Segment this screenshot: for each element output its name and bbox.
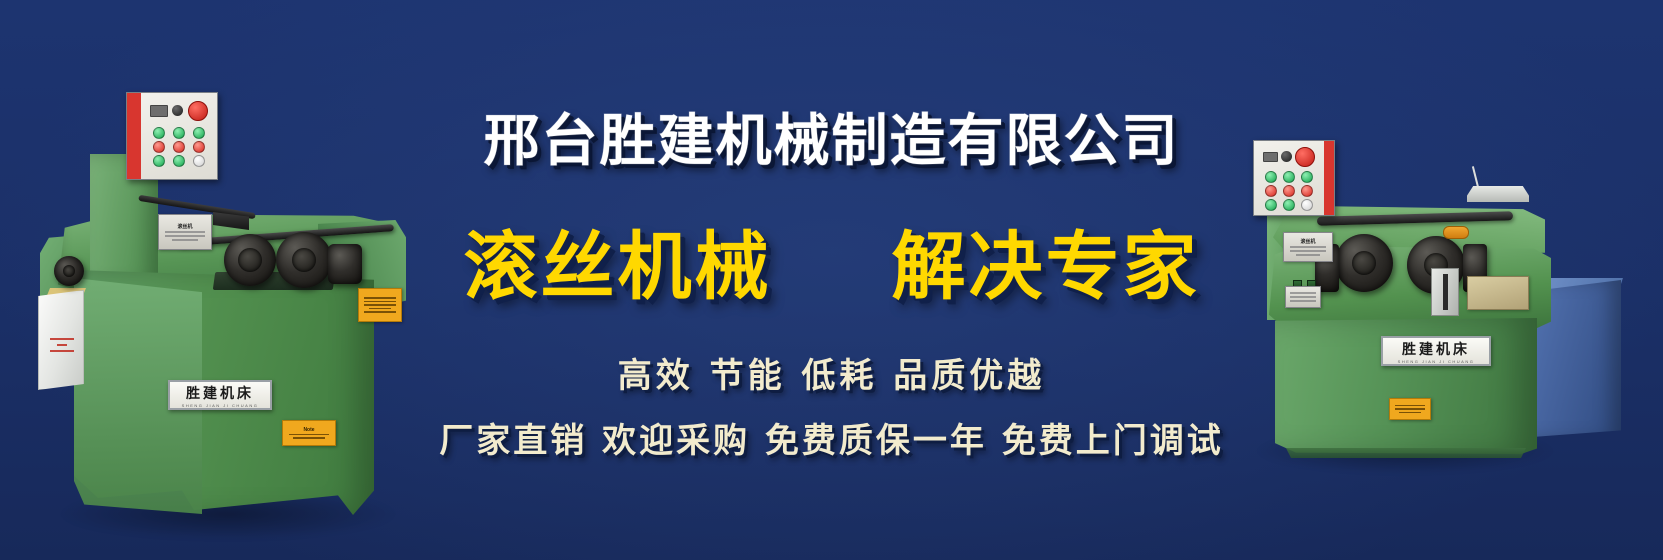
panel-top-row: [1258, 146, 1320, 168]
indicator-lamp[interactable]: [153, 155, 165, 167]
indicator-lamp[interactable]: [1265, 171, 1277, 183]
spec-plate: 滚丝机: [1283, 232, 1333, 262]
rolling-machine-left-image: 滚丝机 胜建机床 SHENG JIAN JI CHUANG Note: [28, 92, 428, 487]
indicator-lamp[interactable]: [1265, 185, 1277, 197]
button-grid[interactable]: [145, 124, 213, 170]
selector-knob-icon[interactable]: [1281, 151, 1292, 162]
display-meter: [1263, 152, 1279, 162]
cabinet-warning-label: [45, 325, 79, 365]
indicator-lamp[interactable]: [1265, 199, 1277, 211]
panel-side-strip: [1324, 141, 1334, 215]
label-text-line: [50, 338, 74, 340]
note-label-title: Note: [303, 427, 314, 433]
indicator-lamp[interactable]: [1301, 199, 1313, 211]
roller-die-head: [224, 234, 276, 286]
indicator-lamp[interactable]: [193, 155, 205, 167]
spec-plate-title: 滚丝机: [1300, 238, 1315, 245]
display-meter: [150, 105, 167, 117]
indicator-lamp[interactable]: [1283, 185, 1295, 197]
indicator-lamp[interactable]: [173, 155, 185, 167]
motor-housing: [328, 244, 362, 284]
indicator-lamp[interactable]: [1301, 171, 1313, 183]
nameplate-en-text: SHENG JIAN JI CHUANG: [182, 403, 259, 408]
orange-spec-label: [358, 288, 402, 322]
panel-top-row: [145, 98, 213, 124]
lubrication-slide: [1431, 268, 1459, 316]
control-panel[interactable]: [1253, 140, 1335, 216]
button-grid[interactable]: [1258, 168, 1320, 206]
safety-warning-label: [1389, 398, 1431, 420]
promo-banner: 滚丝机 胜建机床 SHENG JIAN JI CHUANG Note: [0, 0, 1663, 560]
brand-nameplate: 胜建机床 SHENG JIAN JI CHUANG: [1381, 336, 1491, 366]
note-warning-label: Note: [282, 420, 336, 446]
emergency-stop-icon[interactable]: [1295, 147, 1315, 167]
indicator-lamp[interactable]: [1301, 185, 1313, 197]
indicator-lamp[interactable]: [173, 141, 185, 153]
nameplate-cn-text: 胜建机床: [186, 383, 254, 403]
indicator-lamp[interactable]: [153, 127, 165, 139]
control-panel[interactable]: [126, 92, 218, 180]
indicator-lamp[interactable]: [193, 127, 205, 139]
nameplate-cn-text: 胜建机床: [1402, 339, 1470, 359]
orange-connector-block: [1443, 226, 1469, 239]
selector-knob-icon[interactable]: [172, 105, 183, 116]
secondary-spec-plate: [1285, 286, 1321, 308]
spec-plate-title: 滚丝机: [177, 223, 192, 230]
indicator-lamp[interactable]: [193, 141, 205, 153]
base-foot-pad: [1281, 448, 1531, 458]
indicator-lamp[interactable]: [173, 127, 185, 139]
work-platform: [1467, 186, 1529, 202]
roller-die-head: [276, 232, 332, 288]
nameplate-en-text: SHENG JIAN JI CHUANG: [1398, 359, 1475, 364]
indicator-lamp[interactable]: [153, 141, 165, 153]
label-text-line: [50, 350, 74, 352]
rolling-machine-right-image: 滚丝机 胜建机床 SHENG JIAN JI CHUANG: [1175, 128, 1645, 458]
emergency-stop-icon[interactable]: [188, 101, 208, 121]
brass-spec-plate: [1467, 276, 1529, 310]
brand-nameplate: 胜建机床 SHENG JIAN JI CHUANG: [168, 380, 272, 410]
label-text-line: [57, 344, 67, 346]
indicator-lamp[interactable]: [1283, 171, 1295, 183]
side-cabinet: [38, 290, 84, 390]
indicator-lamp[interactable]: [1283, 199, 1295, 211]
spec-plate: 滚丝机: [158, 214, 212, 250]
panel-face: [141, 93, 217, 179]
left-spindle-end: [54, 256, 84, 286]
panel-face: [1254, 141, 1324, 215]
roller-die-head: [1335, 234, 1393, 292]
panel-side-strip: [127, 93, 141, 179]
